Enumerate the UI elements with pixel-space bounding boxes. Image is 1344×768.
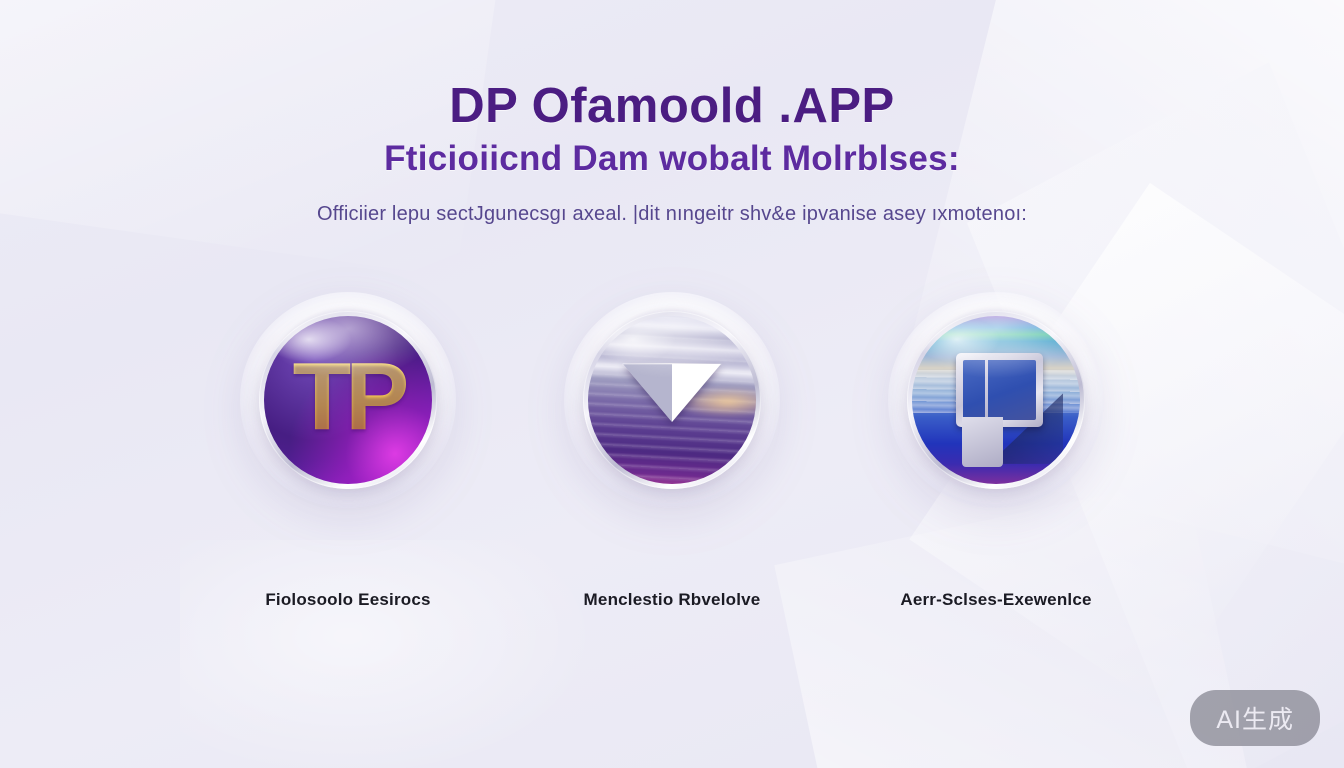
icon-cell-window[interactable]: Aerr-Sclses-Exewenlce [888,292,1104,610]
window-orb-icon[interactable] [907,311,1085,489]
orb-halo [564,292,780,508]
page-title: DP Ofamoold .APP [0,82,1344,132]
window-foot [962,417,1002,467]
poster-canvas: DP Ofamoold .APP Fticioiicnd Dam wobalt … [0,0,1344,768]
envelope-orb-icon[interactable] [583,311,761,489]
window-icon [956,353,1043,427]
icon-cell-monogram[interactable]: TP Fiolosoolo Eesirocs [240,292,456,610]
icon-caption: Menclestio Rbvelolve [584,590,761,610]
icon-row: TP Fiolosoolo Eesirocs [0,292,1344,610]
window-screen [963,360,1036,420]
icon-caption: Fiolosoolo Eesirocs [265,590,430,610]
orb-face: TP [264,316,432,484]
ai-generated-watermark: AI生成 [1190,690,1320,746]
header-block: DP Ofamoold .APP Fticioiicnd Dam wobalt … [0,82,1344,226]
orb-halo: TP [240,292,456,508]
orb-face [588,316,756,484]
icon-caption: Aerr-Sclses-Exewenlce [900,590,1091,610]
window-divider [985,360,988,420]
monogram-letters: TP [264,316,432,484]
orb-face [912,316,1080,484]
orb-halo [888,292,1104,508]
page-description: Officiier lepu sectJgunecsgı axeal. |dit… [0,203,1344,226]
monogram-orb-icon[interactable]: TP [259,311,437,489]
icon-cell-envelope[interactable]: Menclestio Rbvelolve [564,292,780,610]
page-subtitle-heading: Fticioiicnd Dam wobalt Molrblses: [0,141,1344,178]
